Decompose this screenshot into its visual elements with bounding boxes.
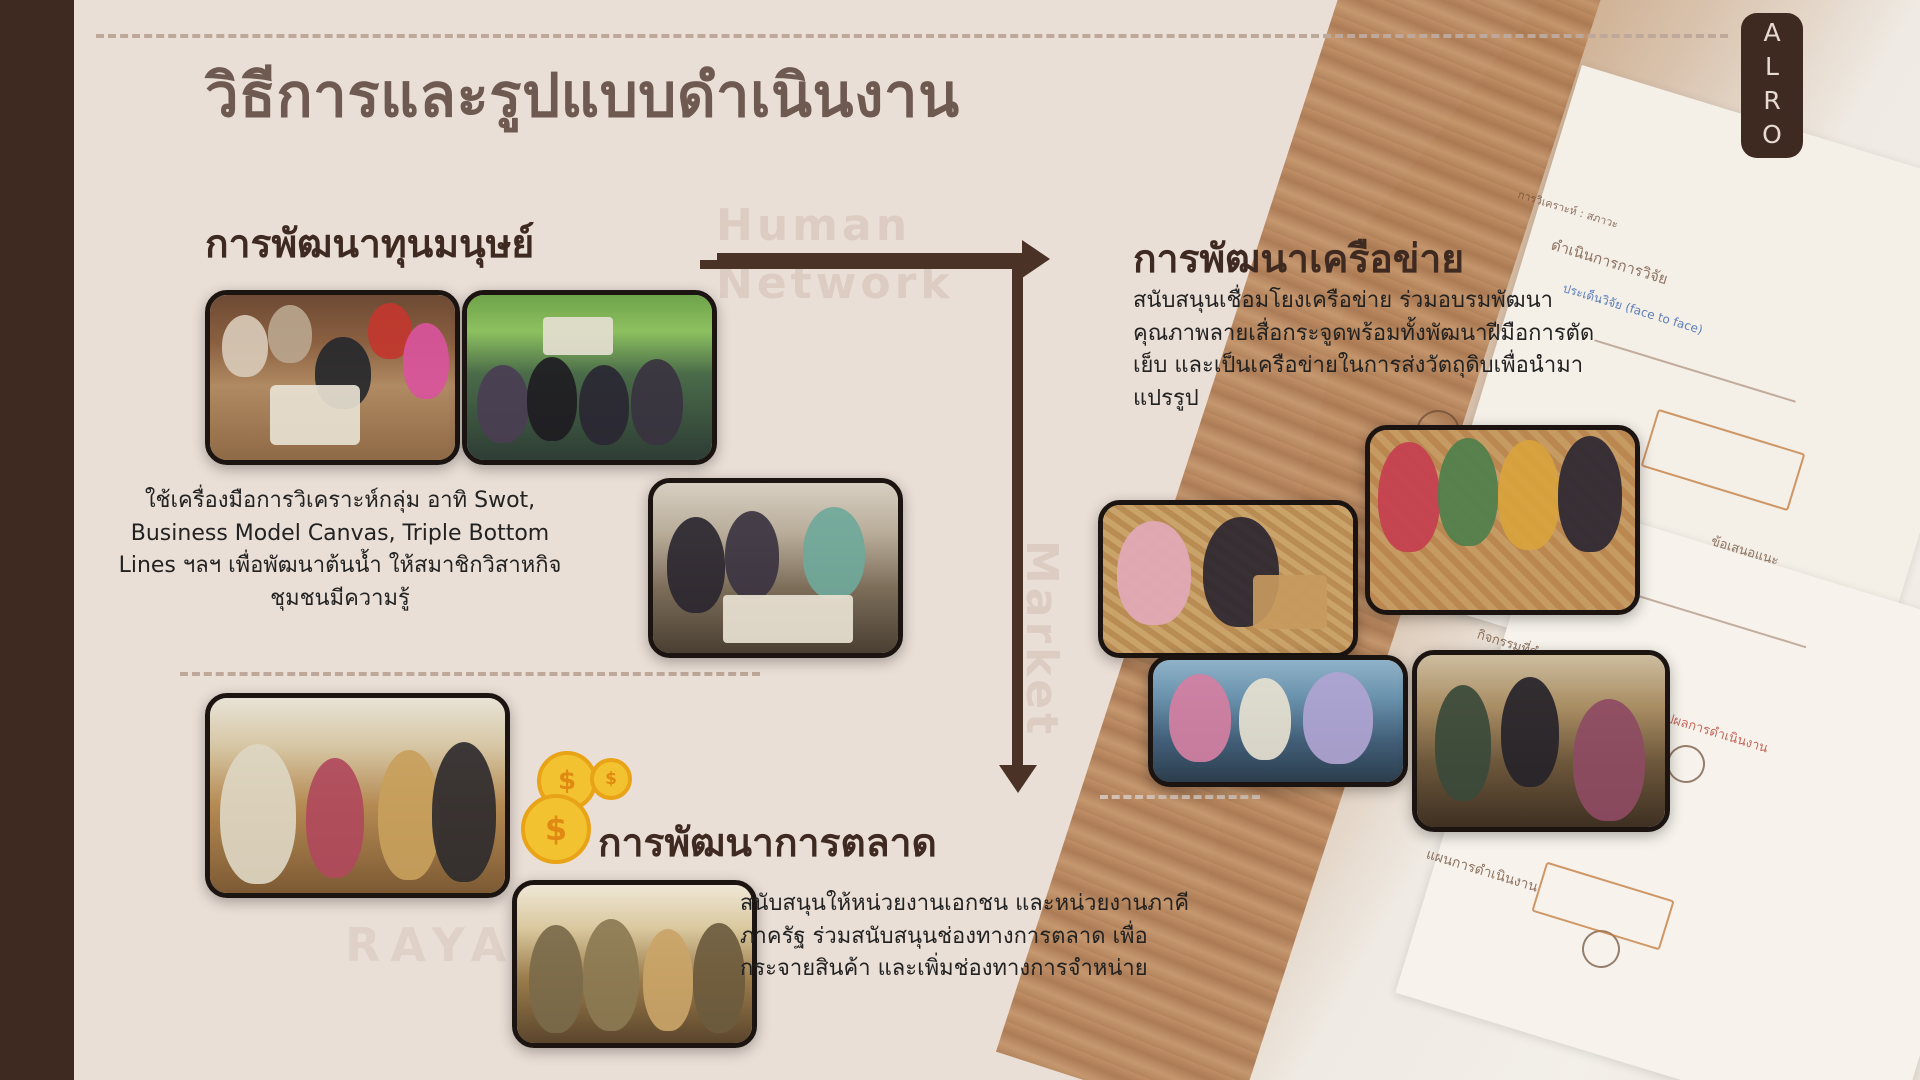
photo-market-visit	[205, 693, 510, 898]
alro-logo-badge: ALRO	[1741, 13, 1803, 158]
arrow-vertical-stem	[1012, 253, 1023, 773]
arrow-down-head-icon	[999, 765, 1037, 793]
ghost-word-human: Human	[716, 200, 911, 251]
figure	[1498, 440, 1560, 550]
photo-shop-display	[1412, 650, 1670, 832]
figure	[1169, 674, 1231, 762]
figure	[1573, 699, 1645, 821]
page-title: วิธีการและรูปแบบดำเนินงาน	[205, 62, 960, 131]
figure	[631, 359, 683, 445]
figure	[579, 365, 629, 445]
figure	[306, 758, 364, 878]
section-heading-human-capital: การพัฒนาทุนมนุษย์	[205, 213, 534, 275]
watermark-raya: RAYA	[345, 918, 516, 972]
slide-canvas: ดำเนินการการวิจัย ประเด็นวิจัย (face to …	[0, 0, 1920, 1080]
divider-middle-dashed	[180, 672, 760, 676]
figure	[432, 742, 496, 882]
figure	[643, 929, 693, 1031]
figure	[268, 305, 312, 363]
woven-basket	[1253, 575, 1327, 629]
figure	[583, 919, 639, 1031]
figure	[1303, 672, 1373, 764]
coin-icon: $	[521, 794, 591, 864]
figure	[803, 507, 865, 599]
figure	[477, 365, 529, 443]
figure	[725, 511, 779, 599]
figure	[1501, 677, 1559, 787]
section-heading-market: การพัฒนาการตลาด	[598, 812, 937, 874]
photo-weaving-pair	[1098, 500, 1358, 658]
figure	[1435, 685, 1491, 801]
figure	[529, 925, 583, 1033]
paper-sheet	[270, 385, 360, 445]
photo-weaving-group	[1365, 425, 1640, 615]
arrow-right-head-icon	[1022, 240, 1050, 278]
photo-training-hall	[462, 290, 717, 465]
figure	[667, 517, 725, 613]
projector-screen	[543, 317, 613, 355]
left-sidebar-rail	[0, 0, 74, 1080]
photo-workshop-table	[1148, 655, 1408, 787]
photo-group-analysis	[205, 290, 460, 465]
figure	[1117, 521, 1191, 625]
divider-top-dashed	[96, 34, 1728, 38]
alro-logo-label: ALRO	[1758, 18, 1787, 154]
figure	[1239, 678, 1291, 760]
section-body-market: สนับสนุนให้หน่วยงานเอกชน และหน่วยงานภาคี…	[740, 888, 1190, 986]
divider-small-dashed	[1100, 795, 1260, 799]
section-heading-network: การพัฒนาเครือข่าย	[1133, 228, 1464, 290]
figure	[378, 750, 440, 880]
ghost-word-market: Market	[1016, 540, 1067, 738]
figure	[1438, 438, 1498, 546]
figure	[403, 323, 449, 399]
figure	[220, 744, 296, 884]
section-underline-human-capital	[700, 260, 1030, 269]
table-surface	[723, 595, 853, 643]
section-body-network: สนับสนุนเชื่อมโยงเครือข่าย ร่วมอบรมพัฒนา…	[1133, 285, 1603, 415]
figure	[693, 923, 745, 1033]
section-body-human-capital: ใช้เครื่องมือการวิเคราะห์กลุ่ม อาทิ Swot…	[105, 485, 575, 615]
photo-ceremony	[512, 880, 757, 1048]
figure	[1558, 436, 1622, 552]
photo-craft-demo	[648, 478, 903, 658]
figure	[1378, 442, 1440, 552]
figure	[222, 315, 268, 377]
coin-icon: $	[590, 758, 632, 800]
figure	[527, 357, 577, 441]
